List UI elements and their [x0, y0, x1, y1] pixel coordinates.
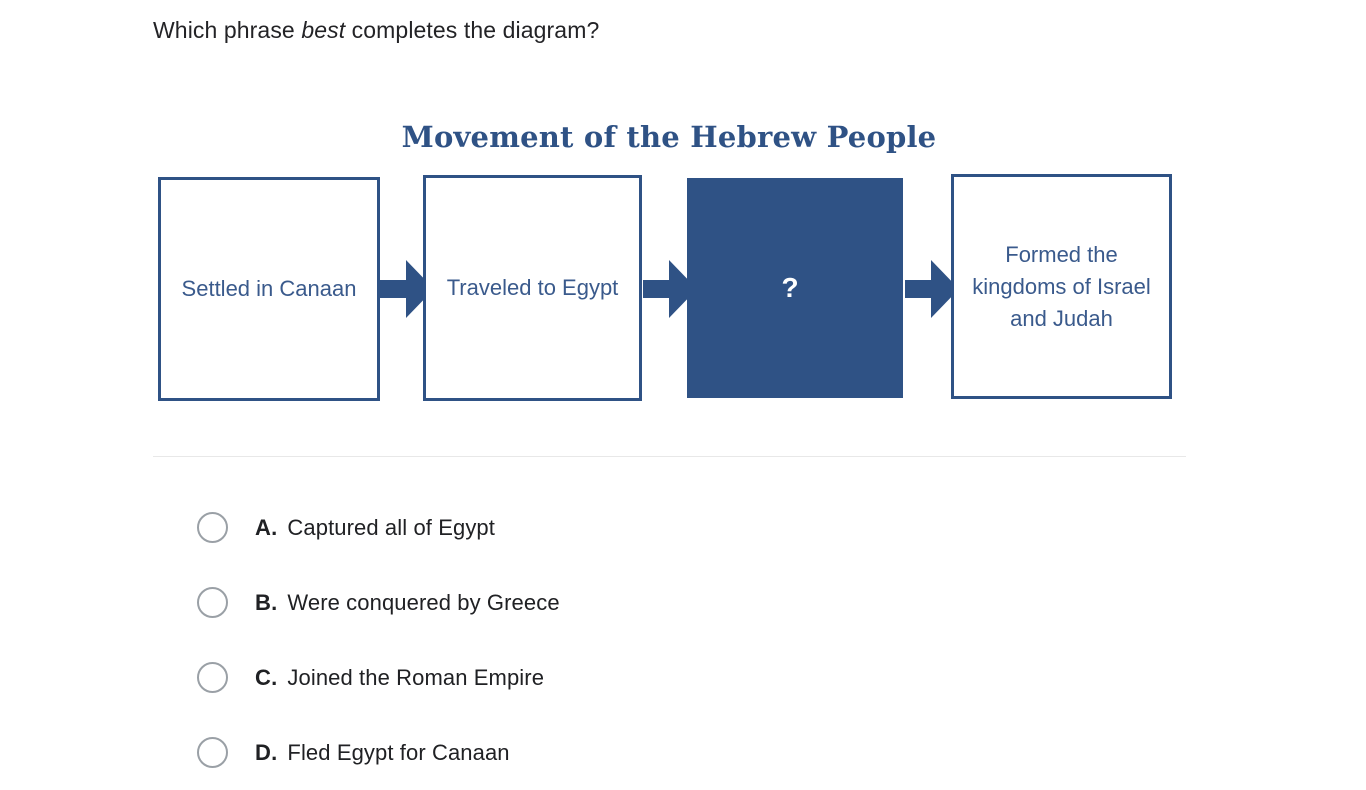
option-text-a: Captured all of Egypt	[287, 515, 495, 541]
answer-option-d[interactable]: D. Fled Egypt for Canaan	[0, 715, 1366, 790]
radio-button-d[interactable]	[197, 737, 228, 768]
section-divider	[153, 456, 1186, 457]
flow-step-unknown: ?	[687, 178, 903, 398]
radio-button-a[interactable]	[197, 512, 228, 543]
flow-diagram: Movement of the Hebrew People Settled in…	[0, 0, 1366, 430]
diagram-title: Movement of the Hebrew People	[0, 118, 1338, 156]
flow-step-formed-kingdoms: Formed the kingdoms of Israel and Judah	[951, 174, 1172, 399]
option-text-b: Were conquered by Greece	[287, 590, 559, 616]
answer-option-c[interactable]: C. Joined the Roman Empire	[0, 640, 1366, 715]
answer-option-b[interactable]: B. Were conquered by Greece	[0, 565, 1366, 640]
flow-step-question-mark: ?	[775, 273, 804, 303]
flow-step-settled-in-canaan: Settled in Canaan	[158, 177, 380, 401]
option-text-d: Fled Egypt for Canaan	[287, 740, 509, 766]
flow-step-label: Traveled to Egypt	[441, 272, 625, 304]
answer-options-list: A. Captured all of Egypt B. Were conquer…	[0, 490, 1366, 790]
flow-step-label: Settled in Canaan	[176, 273, 363, 305]
option-letter-a: A.	[255, 515, 277, 541]
flow-step-traveled-to-egypt: Traveled to Egypt	[423, 175, 642, 401]
radio-button-c[interactable]	[197, 662, 228, 693]
option-text-c: Joined the Roman Empire	[287, 665, 544, 691]
answer-option-a[interactable]: A. Captured all of Egypt	[0, 490, 1366, 565]
flow-step-label: Formed the kingdoms of Israel and Judah	[954, 239, 1169, 335]
option-letter-b: B.	[255, 590, 277, 616]
radio-button-b[interactable]	[197, 587, 228, 618]
option-letter-c: C.	[255, 665, 277, 691]
option-letter-d: D.	[255, 740, 277, 766]
